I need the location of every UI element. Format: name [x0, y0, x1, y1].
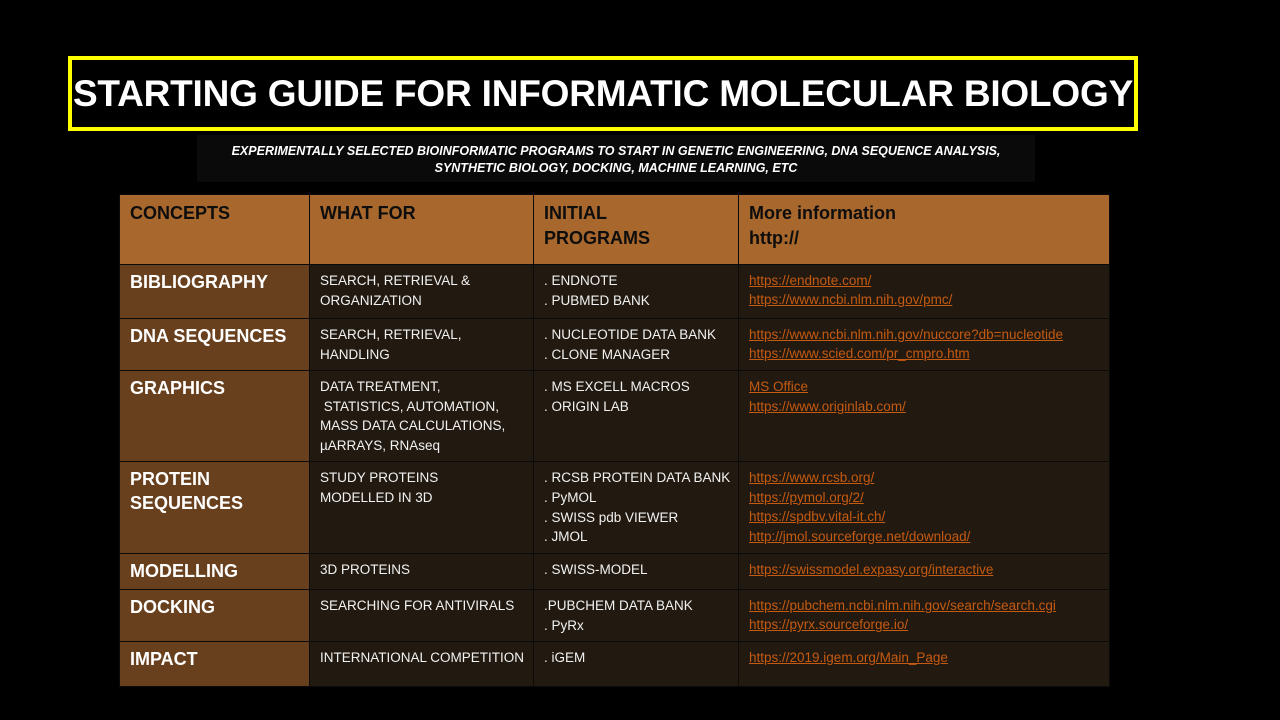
cell-more-information: https://swissmodel.expasy.org/interactiv…	[739, 553, 1110, 589]
cell-initial-programs: . ENDNOTE. PUBMED BANK	[534, 265, 739, 319]
cell-concept: IMPACT	[120, 642, 310, 687]
table-row: MODELLING3D PROTEINS. SWISS-MODELhttps:/…	[120, 553, 1110, 589]
program-line: . NUCLEOTIDE DATA BANK	[544, 325, 730, 345]
resource-link[interactable]: https://www.scied.com/pr_cmpro.htm	[749, 344, 1101, 363]
table-header-row: CONCEPTS WHAT FOR INITIAL PROGRAMS More …	[120, 195, 1110, 265]
resource-link[interactable]: https://2019.igem.org/Main_Page	[749, 648, 1101, 667]
column-header-initial-programs-line2: PROGRAMS	[544, 226, 730, 251]
cell-initial-programs: . RCSB PROTEIN DATA BANK. PyMOL. SWISS p…	[534, 462, 739, 553]
what-for-line: DATA TREATMENT,	[320, 377, 525, 397]
cell-initial-programs: . SWISS-MODEL	[534, 553, 739, 589]
cell-what-for: SEARCHING FOR ANTIVIRALS	[310, 590, 534, 642]
resource-link[interactable]: https://www.originlab.com/	[749, 397, 1101, 416]
program-line: . PUBMED BANK	[544, 291, 730, 311]
table-body: BIBLIOGRAPHYSEARCH, RETRIEVAL &ORGANIZAT…	[120, 265, 1110, 687]
what-for-line: STUDY PROTEINS	[320, 468, 525, 488]
resource-link[interactable]: https://spdbv.vital-it.ch/	[749, 507, 1101, 526]
resource-link[interactable]: http://jmol.sourceforge.net/download/	[749, 527, 1101, 546]
program-line: . SWISS pdb VIEWER	[544, 508, 730, 528]
cell-concept: MODELLING	[120, 553, 310, 589]
cell-concept: GRAPHICS	[120, 371, 310, 462]
program-line: . SWISS-MODEL	[544, 560, 730, 580]
cell-what-for: 3D PROTEINS	[310, 553, 534, 589]
page-title: STARTING GUIDE FOR INFORMATIC MOLECULAR …	[73, 75, 1133, 112]
program-line: . ORIGIN LAB	[544, 397, 730, 417]
resource-link[interactable]: MS Office	[749, 377, 1101, 396]
subtitle-line-2: SYNTHETIC BIOLOGY, DOCKING, MACHINE LEAR…	[435, 160, 798, 177]
resource-link[interactable]: https://www.rcsb.org/	[749, 468, 1101, 487]
program-line: . PyMOL	[544, 488, 730, 508]
resource-link[interactable]: https://endnote.com/	[749, 271, 1101, 290]
program-line: .PUBCHEM DATA BANK	[544, 596, 730, 616]
cell-more-information: https://pubchem.ncbi.nlm.nih.gov/search/…	[739, 590, 1110, 642]
cell-more-information: https://2019.igem.org/Main_Page	[739, 642, 1110, 687]
cell-what-for: SEARCH, RETRIEVAL &ORGANIZATION	[310, 265, 534, 319]
what-for-line: MODELLED IN 3D	[320, 488, 525, 508]
resource-link[interactable]: https://www.ncbi.nlm.nih.gov/nuccore?db=…	[749, 325, 1101, 344]
cell-more-information: https://endnote.com/https://www.ncbi.nlm…	[739, 265, 1110, 319]
subtitle-block: EXPERIMENTALLY SELECTED BIOINFORMATIC PR…	[197, 135, 1035, 182]
program-line: . ENDNOTE	[544, 271, 730, 291]
cell-initial-programs: . iGEM	[534, 642, 739, 687]
table-header: CONCEPTS WHAT FOR INITIAL PROGRAMS More …	[120, 195, 1110, 265]
program-line: . CLONE MANAGER	[544, 345, 730, 365]
cell-concept: PROTEIN SEQUENCES	[120, 462, 310, 553]
cell-concept: BIBLIOGRAPHY	[120, 265, 310, 319]
column-header-concepts: CONCEPTS	[120, 195, 310, 265]
resource-link[interactable]: https://www.ncbi.nlm.nih.gov/pmc/	[749, 290, 1101, 309]
column-header-more-information-line1: More information	[749, 201, 1101, 226]
what-for-line: ORGANIZATION	[320, 291, 525, 311]
table-row: DOCKINGSEARCHING FOR ANTIVIRALS.PUBCHEM …	[120, 590, 1110, 642]
cell-more-information: MS Officehttps://www.originlab.com/	[739, 371, 1110, 462]
subtitle-line-1: EXPERIMENTALLY SELECTED BIOINFORMATIC PR…	[232, 143, 1001, 160]
cell-what-for: STUDY PROTEINSMODELLED IN 3D	[310, 462, 534, 553]
table-row: GRAPHICSDATA TREATMENT, STATISTICS, AUTO…	[120, 371, 1110, 462]
slide-canvas: STARTING GUIDE FOR INFORMATIC MOLECULAR …	[0, 0, 1280, 720]
programs-table: CONCEPTS WHAT FOR INITIAL PROGRAMS More …	[119, 194, 1110, 687]
resource-link[interactable]: https://pyrx.sourceforge.io/	[749, 615, 1101, 634]
cell-concept: DNA SEQUENCES	[120, 319, 310, 371]
column-header-initial-programs-line1: INITIAL	[544, 201, 730, 226]
resource-link[interactable]: https://swissmodel.expasy.org/interactiv…	[749, 560, 1101, 579]
column-header-more-information: More information http://	[739, 195, 1110, 265]
cell-more-information: https://www.rcsb.org/https://pymol.org/2…	[739, 462, 1110, 553]
cell-what-for: SEARCH, RETRIEVAL,HANDLING	[310, 319, 534, 371]
cell-initial-programs: . MS EXCELL MACROS. ORIGIN LAB	[534, 371, 739, 462]
cell-more-information: https://www.ncbi.nlm.nih.gov/nuccore?db=…	[739, 319, 1110, 371]
table-row: IMPACTINTERNATIONAL COMPETITION. iGEMhtt…	[120, 642, 1110, 687]
table-row: BIBLIOGRAPHYSEARCH, RETRIEVAL &ORGANIZAT…	[120, 265, 1110, 319]
resource-link[interactable]: https://pubchem.ncbi.nlm.nih.gov/search/…	[749, 596, 1101, 615]
column-header-initial-programs: INITIAL PROGRAMS	[534, 195, 739, 265]
what-for-line: 3D PROTEINS	[320, 560, 525, 580]
program-line: . PyRx	[544, 616, 730, 636]
what-for-line: SEARCH, RETRIEVAL,	[320, 325, 525, 345]
column-header-more-information-line2: http://	[749, 226, 1101, 251]
column-header-what-for: WHAT FOR	[310, 195, 534, 265]
program-line: . iGEM	[544, 648, 730, 668]
table-row: PROTEIN SEQUENCESSTUDY PROTEINSMODELLED …	[120, 462, 1110, 553]
table-row: DNA SEQUENCESSEARCH, RETRIEVAL,HANDLING.…	[120, 319, 1110, 371]
title-banner: STARTING GUIDE FOR INFORMATIC MOLECULAR …	[68, 56, 1138, 131]
cell-what-for: DATA TREATMENT, STATISTICS, AUTOMATION,M…	[310, 371, 534, 462]
what-for-line: SEARCHING FOR ANTIVIRALS	[320, 596, 525, 616]
resource-link[interactable]: https://pymol.org/2/	[749, 488, 1101, 507]
program-line: . RCSB PROTEIN DATA BANK	[544, 468, 730, 488]
what-for-line: INTERNATIONAL COMPETITION	[320, 648, 525, 668]
cell-initial-programs: . NUCLEOTIDE DATA BANK. CLONE MANAGER	[534, 319, 739, 371]
what-for-line: STATISTICS, AUTOMATION,	[320, 397, 525, 417]
program-line: . MS EXCELL MACROS	[544, 377, 730, 397]
what-for-line: HANDLING	[320, 345, 525, 365]
what-for-line: MASS DATA CALCULATIONS,	[320, 416, 525, 436]
what-for-line: µARRAYS, RNAseq	[320, 436, 525, 456]
cell-what-for: INTERNATIONAL COMPETITION	[310, 642, 534, 687]
program-line: . JMOL	[544, 527, 730, 547]
cell-concept: DOCKING	[120, 590, 310, 642]
what-for-line: SEARCH, RETRIEVAL &	[320, 271, 525, 291]
cell-initial-programs: .PUBCHEM DATA BANK. PyRx	[534, 590, 739, 642]
